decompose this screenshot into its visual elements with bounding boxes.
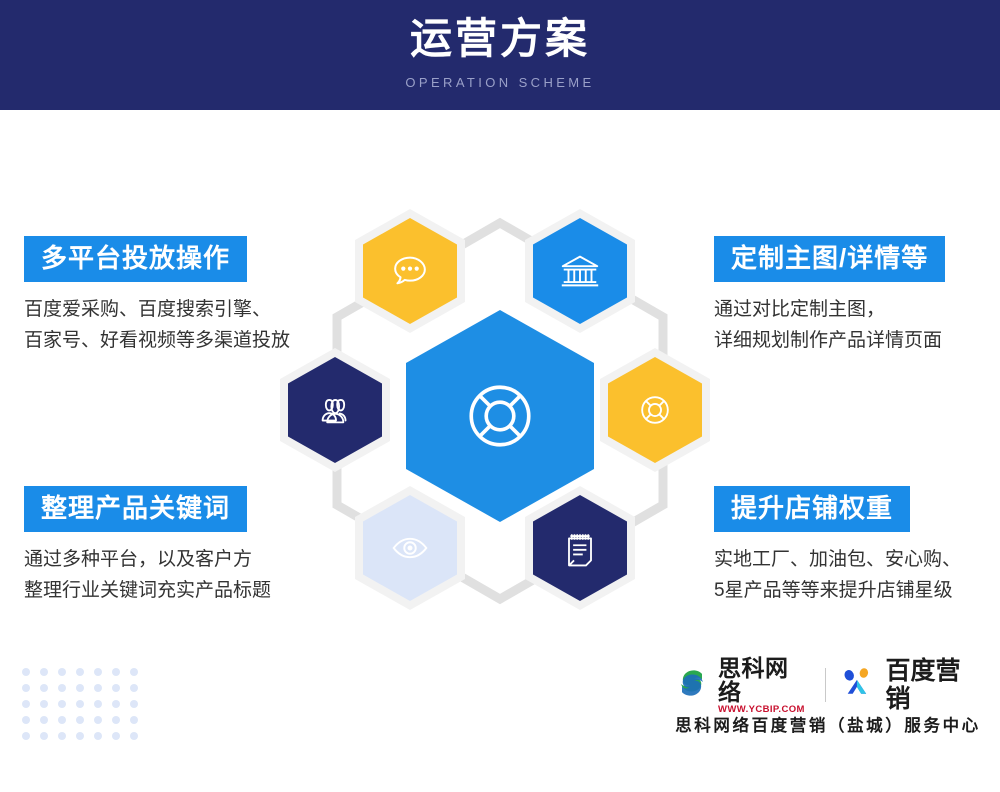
baidu-paw-icon bbox=[840, 666, 880, 705]
page-header: 运营方案 OPERATION SCHEME bbox=[0, 0, 1000, 110]
feature-label: 多平台投放操作 bbox=[24, 236, 247, 282]
hexagon-cluster bbox=[270, 205, 730, 635]
page-title: 运营方案 bbox=[0, 13, 1000, 65]
notepad-icon bbox=[558, 526, 602, 570]
decorative-dot-grid bbox=[22, 668, 148, 748]
baidu-logo: 百度营销 bbox=[840, 657, 984, 713]
infographic-page: 运营方案 OPERATION SCHEME bbox=[0, 0, 1000, 792]
feature-block-top-right: 定制主图/详情等 通过对比定制主图， 详细规划制作产品详情页面 bbox=[714, 236, 945, 356]
feature-description: 通过多种平台，以及客户方 整理行业关键词充实产品标题 bbox=[24, 544, 271, 606]
lifebuoy-icon bbox=[454, 370, 546, 462]
users-group-icon bbox=[313, 388, 357, 432]
brand-divider bbox=[825, 668, 826, 702]
feature-label: 整理产品关键词 bbox=[24, 486, 247, 532]
feature-description: 通过对比定制主图， 详细规划制作产品详情页面 bbox=[714, 294, 945, 356]
feature-description: 百度爱采购、百度搜索引擎、 百家号、好看视频等多渠道投放 bbox=[24, 294, 290, 356]
feature-label: 定制主图/详情等 bbox=[714, 236, 945, 282]
service-center-caption: 思科网络百度营销（盐城）服务中心 bbox=[672, 715, 984, 737]
feature-block-bottom-left: 整理产品关键词 通过多种平台，以及客户方 整理行业关键词充实产品标题 bbox=[24, 486, 271, 606]
sico-logo: 思科网络 WWW.YCBIP.COM bbox=[672, 656, 811, 715]
sico-swirl-icon bbox=[672, 663, 712, 708]
lifebuoy-icon bbox=[633, 388, 677, 432]
brand-logos-row: 思科网络 WWW.YCBIP.COM 百度营销 bbox=[672, 662, 984, 708]
feature-description: 实地工厂、加油包、安心购、 5星产品等等来提升店铺星级 bbox=[714, 544, 961, 606]
page-subtitle: OPERATION SCHEME bbox=[0, 74, 1000, 92]
footer-branding: 思科网络 WWW.YCBIP.COM 百度营销 思科网络百度营销（盐城）服务中心 bbox=[672, 662, 984, 737]
bank-building-icon bbox=[557, 248, 603, 294]
baidu-name: 百度营销 bbox=[886, 657, 984, 713]
feature-block-bottom-right: 提升店铺权重 实地工厂、加油包、安心购、 5星产品等等来提升店铺星级 bbox=[714, 486, 961, 606]
eye-icon bbox=[387, 525, 433, 571]
feature-block-top-left: 多平台投放操作 百度爱采购、百度搜索引擎、 百家号、好看视频等多渠道投放 bbox=[24, 236, 290, 356]
feature-label: 提升店铺权重 bbox=[714, 486, 910, 532]
chat-bubble-icon bbox=[387, 248, 433, 294]
sico-name: 思科网络 bbox=[718, 656, 811, 704]
sico-url: WWW.YCBIP.COM bbox=[718, 704, 811, 715]
